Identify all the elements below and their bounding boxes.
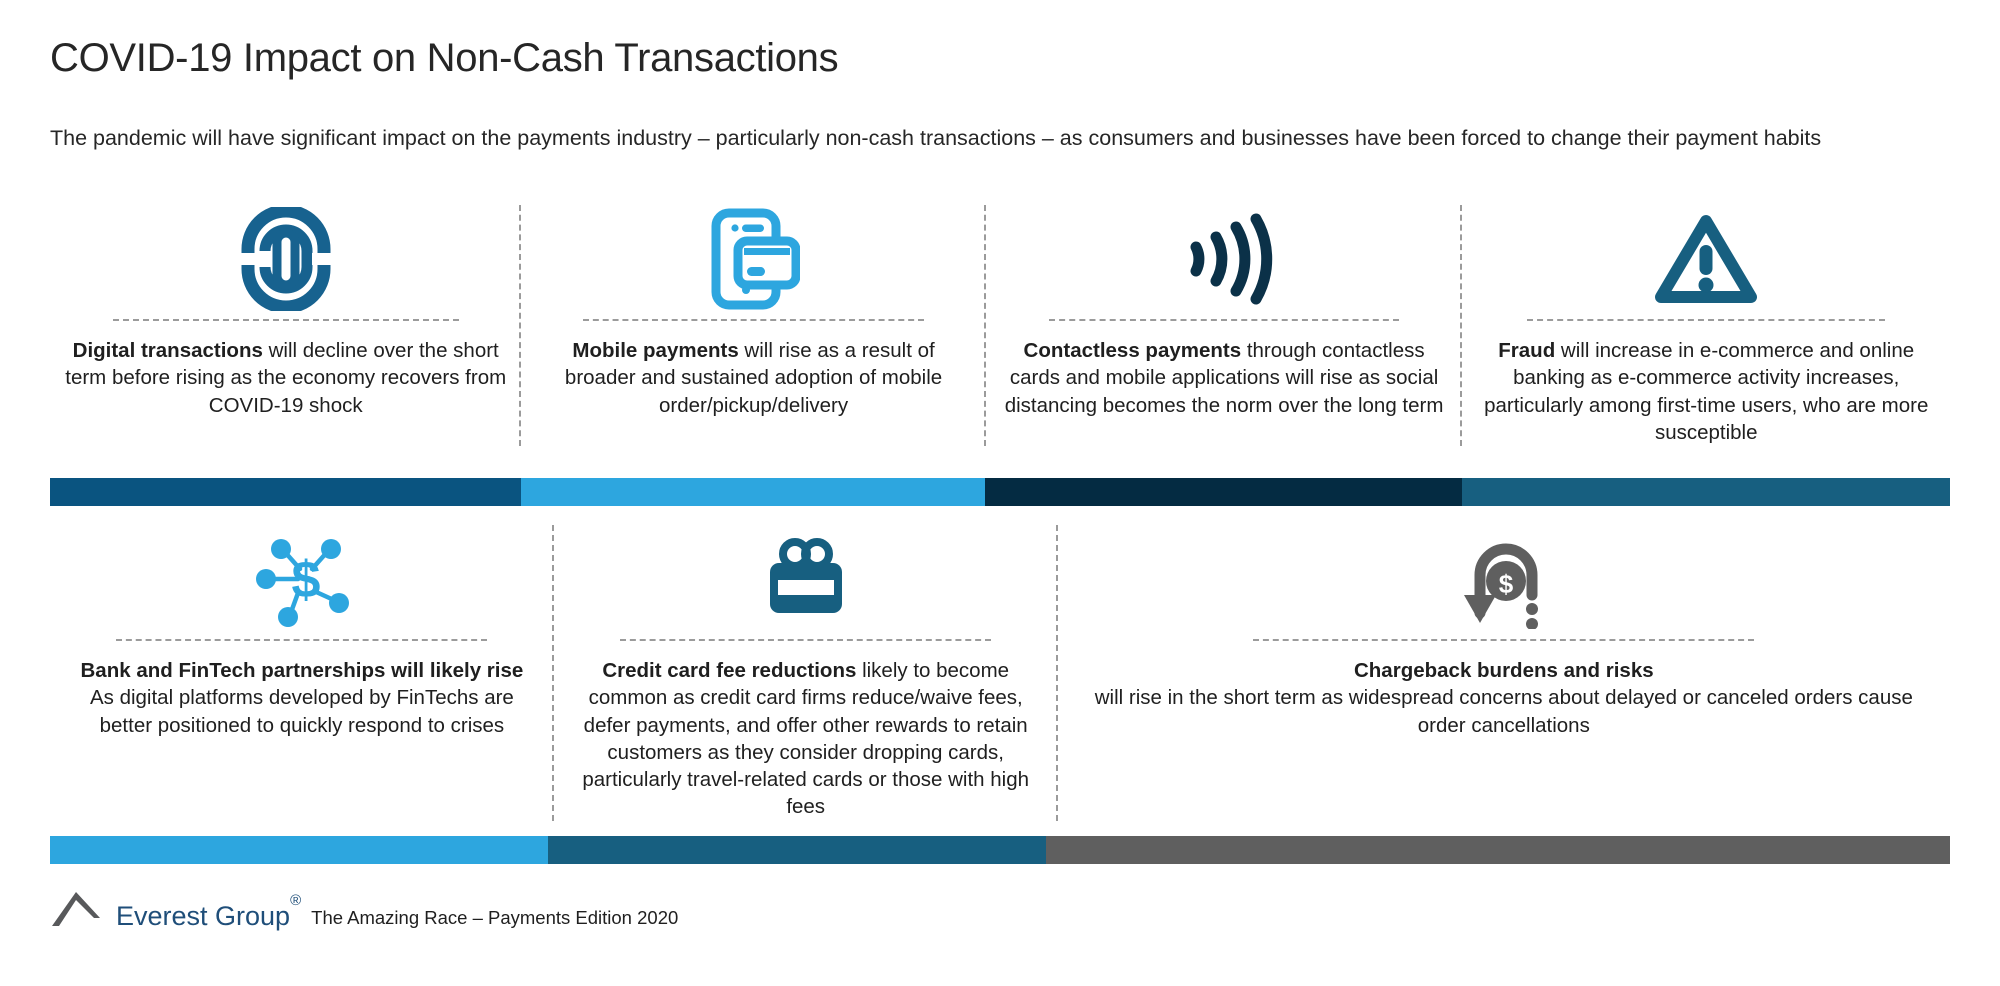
bar-segment-chargeback-burdens [1046,836,1950,864]
page-title: COVID-19 Impact on Non-Cash Transactions [50,36,838,81]
insight-card-text: Digital transactions will decline over t… [64,337,507,419]
registered-trademark-icon: ® [290,892,301,909]
card-divider-rule [1049,319,1399,321]
insight-card-text: Mobile payments will rise as a result of… [535,337,971,419]
insight-card-text: Credit card fee reductions likely to bec… [568,657,1044,821]
insight-card-text: Fraud will increase in e-commerce and on… [1476,337,1936,446]
bar-segment-credit-card-fee-reductions [548,836,1046,864]
insight-card-lead: Bank and FinTech partnerships will likel… [81,659,524,682]
insight-card-text: Bank and FinTech partnerships will likel… [64,657,540,739]
insight-card-body: will rise in the short term as widesprea… [1095,686,1913,736]
insight-card-mobile-payments[interactable]: Mobile payments will rise as a result of… [521,205,985,446]
color-bar-row-two [50,836,1950,864]
insight-card-text: Chargeback burdens and riskswill rise in… [1072,657,1936,739]
card-divider-rule [113,319,459,321]
everest-group-logo-mark [50,888,106,928]
card-divider-rule [1253,639,1754,641]
insight-card-bank-fintech-partnerships[interactable]: $ Bank and FinTech partnerships will lik… [50,525,554,821]
bar-segment-mobile-payments [521,478,985,506]
card-divider-rule [620,639,991,641]
insight-card-text: Contactless payments through contactless… [1000,337,1449,419]
svg-text:$: $ [291,551,320,609]
bar-segment-bank-fintech-partnerships [50,836,548,864]
insight-card-lead: Digital transactions [73,339,263,362]
insight-card-lead: Mobile payments [572,339,738,362]
network-dollar-icon: $ [250,525,354,633]
card-divider-rule [116,639,487,641]
everest-group-wordmark: Everest Group® [116,903,301,930]
chargeback-refund-icon: $ [1454,525,1554,633]
page-subtitle: The pandemic will have significant impac… [50,124,1940,152]
card-divider-rule [583,319,923,321]
insight-card-body: As digital platforms developed by FinTec… [90,686,514,736]
insight-card-lead: Contactless payments [1024,339,1242,362]
footer-caption: The Amazing Race – Payments Edition 2020 [311,909,678,928]
insight-card-digital-transactions[interactable]: Digital transactions will decline over t… [50,205,521,446]
warning-triangle-icon [1651,205,1761,313]
insight-card-lead: Credit card fee reductions [602,659,856,682]
insight-card-credit-card-fee-reductions[interactable]: Credit card fee reductions likely to bec… [554,525,1058,821]
insight-card-body: likely to become common as credit card f… [582,659,1029,818]
card-divider-rule [1527,319,1885,321]
bar-segment-contactless-payments [985,478,1462,506]
insight-row-two: $ Bank and FinTech partnerships will lik… [50,525,1950,833]
mobile-payment-card-icon [708,205,800,313]
gift-card-icon [764,525,848,633]
insight-card-lead: Chargeback burdens and risks [1354,659,1654,682]
insight-row-one: Digital transactions will decline over t… [50,205,1950,483]
bar-segment-digital-transactions [50,478,521,506]
fingerprint-icon [238,205,334,313]
insight-card-fraud[interactable]: Fraud will increase in e-commerce and on… [1462,205,1950,446]
contactless-waves-icon [1174,205,1274,313]
insight-card-chargeback-burdens[interactable]: $ Chargeback burdens and riskswill rise … [1058,525,1950,821]
svg-text:$: $ [1499,569,1514,599]
insight-card-contactless-payments[interactable]: Contactless payments through contactless… [986,205,1463,446]
bar-segment-fraud [1462,478,1950,506]
footer: Everest Group® The Amazing Race – Paymen… [50,888,678,928]
insight-card-lead: Fraud [1498,339,1555,362]
color-bar-row-one [50,478,1950,506]
